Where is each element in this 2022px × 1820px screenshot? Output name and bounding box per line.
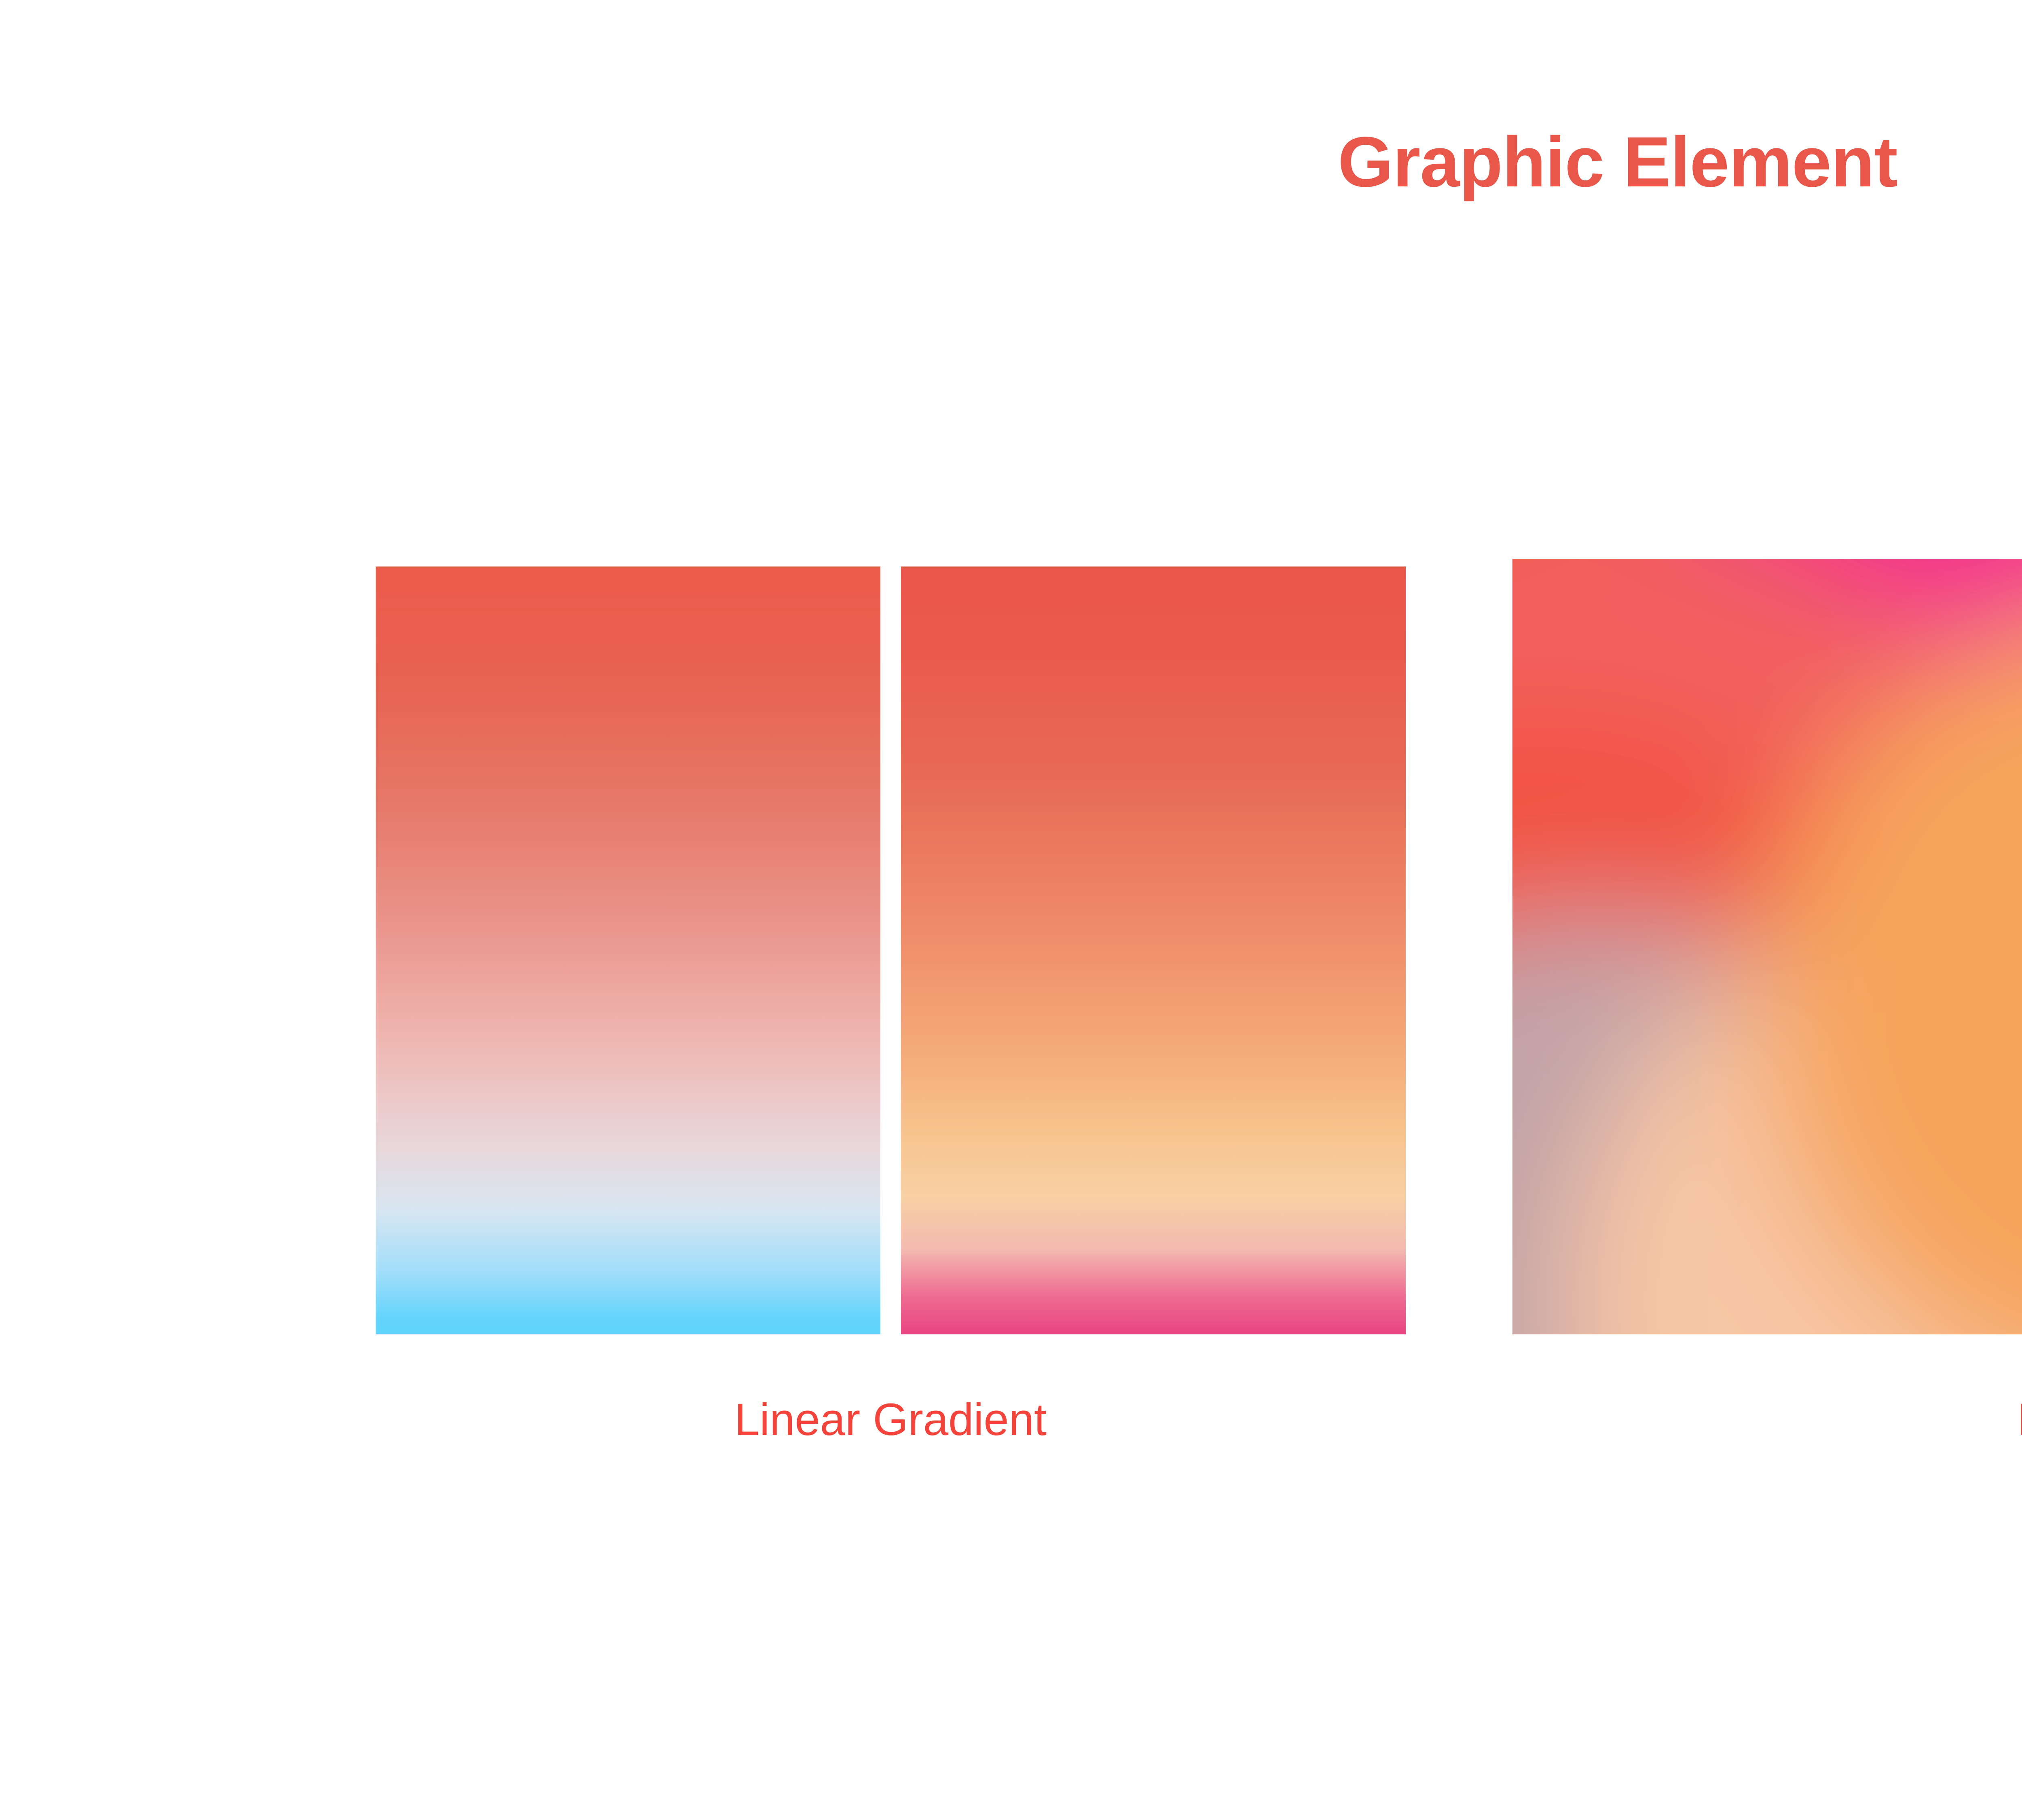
linear-gradient-caption: Linear Gradient: [376, 1397, 1405, 1442]
freeform-gradient-caption: Freeform Gradient: [1512, 1397, 2022, 1442]
linear-gradient-swatch-red-to-cyan[interactable]: [376, 567, 880, 1334]
linear-gradient-swatch-red-to-pink[interactable]: [901, 567, 1406, 1334]
page-title: Graphic Element: [0, 121, 2022, 203]
freeform-gradient-group[interactable]: [1512, 559, 2022, 1334]
slide-canvas: Graphic Element Linear Gradient Freeform…: [0, 0, 2022, 1820]
linear-gradient-group: [376, 567, 1405, 1334]
freeform-gradient-mesh: [1512, 559, 2022, 1334]
